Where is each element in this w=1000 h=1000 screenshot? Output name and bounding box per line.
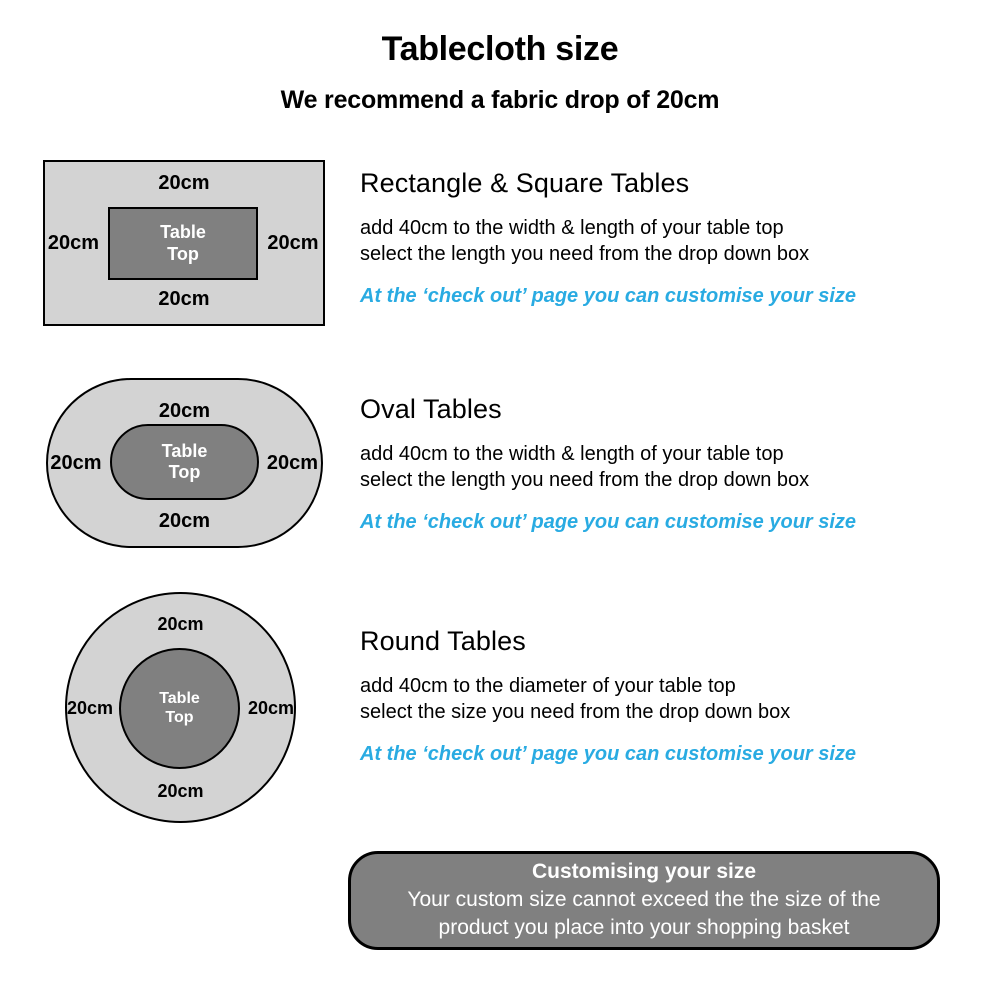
oval-drop-label-left: 20cm bbox=[44, 452, 108, 475]
table-top-label-line1: Table bbox=[162, 441, 208, 462]
oval-table-top: Table Top bbox=[110, 424, 259, 500]
table-top-label-line2: Top bbox=[167, 244, 199, 265]
round-table-top: Table Top bbox=[119, 648, 240, 769]
rectangle-instruction-line-1: add 40cm to the width & length of your t… bbox=[360, 215, 856, 241]
round-instruction-line-1: add 40cm to the diameter of your table t… bbox=[360, 673, 856, 699]
oval-checkout-note: At the ‘check out’ page you can customis… bbox=[360, 511, 856, 534]
round-table-diagram: Table Top 20cm 20cm 20cm 20cm bbox=[65, 592, 296, 823]
rectangle-instruction-line-2: select the length you need from the drop… bbox=[360, 241, 856, 267]
table-top-label-line1: Table bbox=[160, 222, 206, 243]
callout-line-2: product you place into your shopping bas… bbox=[439, 914, 850, 942]
oval-instruction-line-1: add 40cm to the width & length of your t… bbox=[360, 441, 856, 467]
tablecloth-size-infographic: Tablecloth size We recommend a fabric dr… bbox=[0, 0, 1000, 1000]
oval-table-diagram: Table Top 20cm 20cm 20cm 20cm bbox=[46, 378, 323, 548]
round-section-text: Round Tables add 40cm to the diameter of… bbox=[360, 626, 856, 766]
rectangle-drop-label-bottom: 20cm bbox=[43, 288, 325, 311]
callout-title: Customising your size bbox=[532, 860, 756, 884]
rectangle-drop-label-left: 20cm bbox=[41, 232, 106, 255]
table-top-label-line2: Top bbox=[169, 462, 201, 483]
oval-section-text: Oval Tables add 40cm to the width & leng… bbox=[360, 394, 856, 534]
page-title: Tablecloth size bbox=[0, 30, 1000, 69]
round-drop-label-right: 20cm bbox=[242, 698, 300, 719]
round-section-heading: Round Tables bbox=[360, 626, 856, 657]
rectangle-drop-label-right: 20cm bbox=[260, 232, 326, 255]
oval-drop-label-top: 20cm bbox=[46, 400, 323, 423]
table-top-label-line1: Table bbox=[159, 690, 200, 709]
oval-drop-label-bottom: 20cm bbox=[46, 510, 323, 533]
oval-drop-label-right: 20cm bbox=[260, 452, 325, 475]
table-top-label-line2: Top bbox=[165, 709, 193, 728]
rectangle-table-diagram: Table Top 20cm 20cm 20cm 20cm bbox=[43, 160, 325, 326]
rectangle-checkout-note: At the ‘check out’ page you can customis… bbox=[360, 285, 856, 308]
oval-section-heading: Oval Tables bbox=[360, 394, 856, 425]
page-subtitle: We recommend a fabric drop of 20cm bbox=[0, 86, 1000, 115]
round-instruction-line-2: select the size you need from the drop d… bbox=[360, 699, 856, 725]
rectangle-section-text: Rectangle & Square Tables add 40cm to th… bbox=[360, 168, 856, 308]
callout-line-1: Your custom size cannot exceed the the s… bbox=[407, 886, 880, 914]
customising-your-size-callout: Customising your size Your custom size c… bbox=[348, 851, 940, 950]
rectangle-drop-label-top: 20cm bbox=[43, 172, 325, 195]
round-drop-label-top: 20cm bbox=[65, 614, 296, 635]
oval-instruction-line-2: select the length you need from the drop… bbox=[360, 467, 856, 493]
round-checkout-note: At the ‘check out’ page you can customis… bbox=[360, 743, 856, 766]
round-drop-label-bottom: 20cm bbox=[65, 781, 296, 802]
round-drop-label-left: 20cm bbox=[61, 698, 119, 719]
rectangle-section-heading: Rectangle & Square Tables bbox=[360, 168, 856, 199]
rectangle-table-top: Table Top bbox=[108, 207, 258, 280]
